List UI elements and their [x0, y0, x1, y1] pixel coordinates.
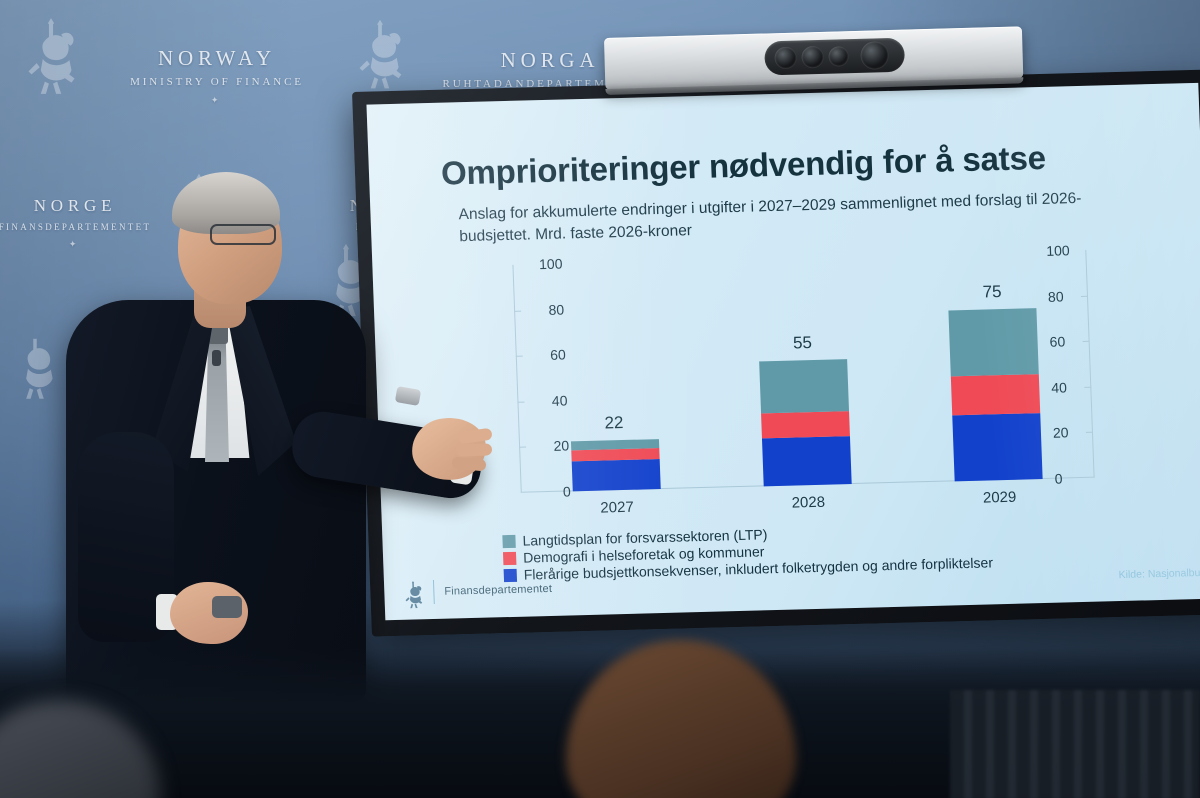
bar-2029[interactable]: 752029 — [949, 308, 1043, 481]
y-axis-tick-label-left: 20 — [523, 438, 570, 455]
presentation-clicker-icon — [212, 596, 242, 618]
eyeglasses-icon — [210, 224, 276, 245]
y-tick-mark — [1086, 432, 1093, 433]
bar-segment[interactable] — [949, 308, 1039, 376]
legend-swatch-red — [503, 551, 516, 564]
stacked-bar-chart: 0020204040606080801001002220275520287520… — [454, 244, 1153, 522]
camera-main-lens — [860, 41, 889, 70]
chart-legend: Langtidsplan for forsvarssektoren (LTP) … — [502, 520, 993, 584]
y-axis-left — [512, 265, 521, 493]
bar-total-label: 75 — [982, 282, 1002, 302]
bar-segment[interactable] — [951, 374, 1040, 415]
wristwatch-icon — [395, 386, 421, 406]
bar-segment[interactable] — [761, 411, 850, 438]
source-credit: Kilde: Nasjonalbud — [1118, 567, 1200, 581]
slide: Omprioriteringer nødvendig for å satse A… — [366, 83, 1200, 620]
bar-segment[interactable] — [571, 448, 659, 462]
bar-segment[interactable] — [571, 459, 660, 491]
x-axis-label: 2027 — [600, 499, 634, 517]
tv-screen: Omprioriteringer nødvendig for å satse A… — [366, 83, 1200, 620]
x-axis-label: 2029 — [983, 489, 1017, 507]
chart-plot-area: 0020204040606080801001002220275520287520… — [512, 250, 1094, 493]
press-conference-photo: NORWAY MINISTRY OF FINANCE ✦ NORGA RUHTA… — [0, 0, 1200, 798]
y-axis-tick-label-left: 80 — [518, 301, 565, 318]
bar-segment[interactable] — [759, 359, 849, 414]
camera-lens-housing — [764, 38, 905, 76]
y-tick-mark — [1084, 387, 1091, 388]
lapel-microphone-icon — [212, 350, 221, 366]
y-axis-tick-label-right: 0 — [1044, 470, 1101, 487]
y-axis-tick-label-left: 40 — [521, 392, 568, 409]
bar-2028[interactable]: 552028 — [759, 359, 852, 487]
legend-swatch-teal — [502, 534, 515, 547]
y-axis-right — [1085, 250, 1094, 478]
bar-segment[interactable] — [953, 413, 1043, 481]
video-conference-camera-icon — [604, 26, 1023, 90]
finger — [456, 443, 492, 456]
speaker-figure — [60, 182, 480, 702]
y-tick-mark — [1083, 341, 1090, 342]
camera-lens — [801, 46, 824, 69]
y-tick-mark — [1081, 295, 1088, 296]
bar-segment[interactable] — [762, 436, 852, 486]
y-axis-tick-label-left: 0 — [525, 483, 572, 500]
y-tick-mark — [517, 401, 524, 402]
y-tick-mark — [516, 356, 523, 357]
camera-sensor — [828, 46, 849, 67]
bar-total-label: 55 — [793, 333, 813, 353]
slide-subtitle: Anslag for akkumulerte endringer i utgif… — [458, 186, 1149, 249]
slide-title: Omprioriteringer nødvendig for å satse — [440, 139, 1046, 193]
camera-lens — [774, 47, 797, 70]
bar-2027[interactable]: 222027 — [571, 439, 661, 491]
y-axis-tick-label-left: 60 — [519, 347, 566, 364]
background-curtain — [950, 690, 1200, 798]
y-tick-mark — [514, 310, 521, 311]
y-tick-mark — [519, 447, 526, 448]
y-axis-tick-label-right: 100 — [1036, 242, 1093, 259]
bar-total-label: 22 — [604, 413, 624, 433]
x-axis-label: 2028 — [791, 494, 825, 512]
y-axis-tick-label-left: 100 — [516, 256, 563, 273]
